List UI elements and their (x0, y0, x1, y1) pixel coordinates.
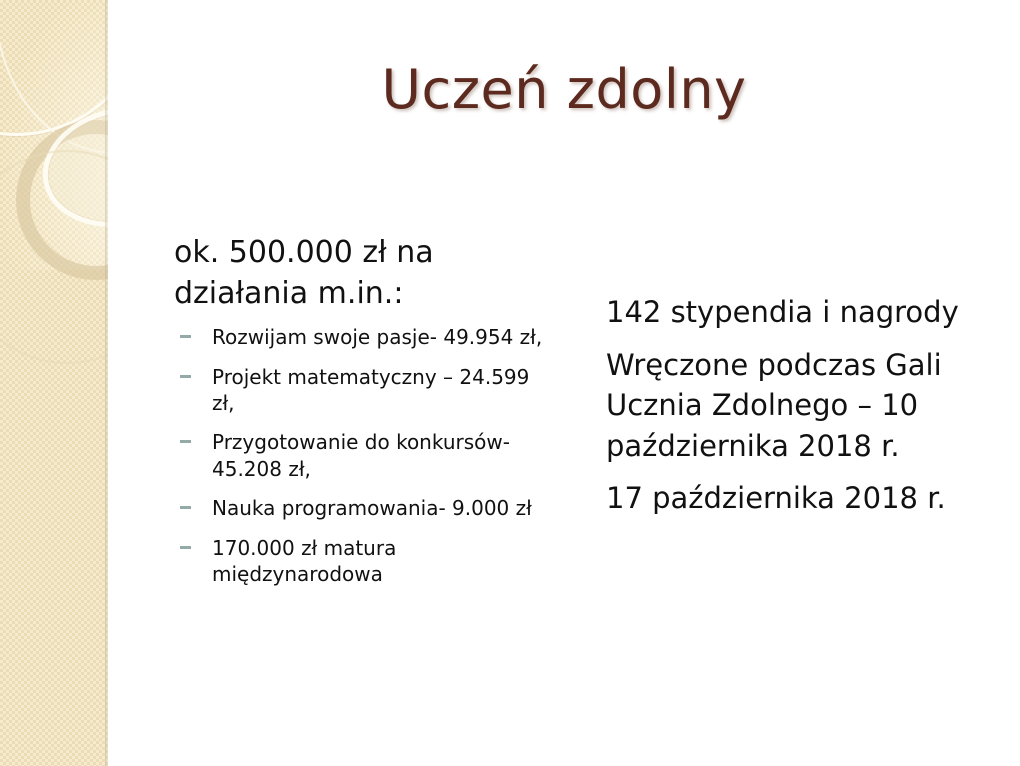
list-item: Rozwijam swoje pasje- 49.954 zł, (174, 324, 554, 350)
funding-bullet-list: Rozwijam swoje pasje- 49.954 zł, Projekt… (174, 324, 554, 587)
dash-bullet-icon (180, 440, 191, 443)
list-item-label: Rozwijam swoje pasje- 49.954 zł, (212, 325, 542, 349)
second-ceremony-date-text: 17 października 2018 r. (606, 478, 1016, 519)
slide-canvas: Uczeń zdolny ok. 500.000 zł na działania… (0, 0, 1020, 766)
list-item-label: Przygotowanie do konkursów- 45.208 zł, (212, 430, 510, 480)
list-item: 170.000 zł matura międzynarodowa (174, 535, 554, 588)
dash-bullet-icon (180, 546, 191, 549)
list-item-label: 170.000 zł matura międzynarodowa (212, 536, 396, 586)
right-content-column: 142 stypendia i nagrody Wręczone podczas… (606, 292, 1016, 519)
dash-bullet-icon (180, 335, 191, 338)
list-item: Przygotowanie do konkursów- 45.208 zł, (174, 429, 554, 482)
list-item: Nauka programowania- 9.000 zł (174, 495, 554, 521)
list-item-label: Projekt matematyczny – 24.599 zł, (212, 365, 529, 415)
left-column-lead-text: ok. 500.000 zł na działania m.in.: (174, 232, 554, 314)
theme-sidebar-panel (0, 0, 108, 766)
page-title: Uczeń zdolny (108, 58, 1020, 121)
left-content-column: ok. 500.000 zł na działania m.in.: Rozwi… (174, 232, 554, 600)
list-item-label: Nauka programowania- 9.000 zł (212, 496, 532, 520)
ceremony-description-text: Wręczone podczas Gali Ucznia Zdolnego – … (606, 345, 1016, 467)
dash-bullet-icon (180, 506, 191, 509)
scholarship-count-text: 142 stypendia i nagrody (606, 292, 1016, 333)
list-item: Projekt matematyczny – 24.599 zł, (174, 364, 554, 417)
decorative-faint-arc-icon (0, 150, 108, 364)
dash-bullet-icon (180, 375, 191, 378)
